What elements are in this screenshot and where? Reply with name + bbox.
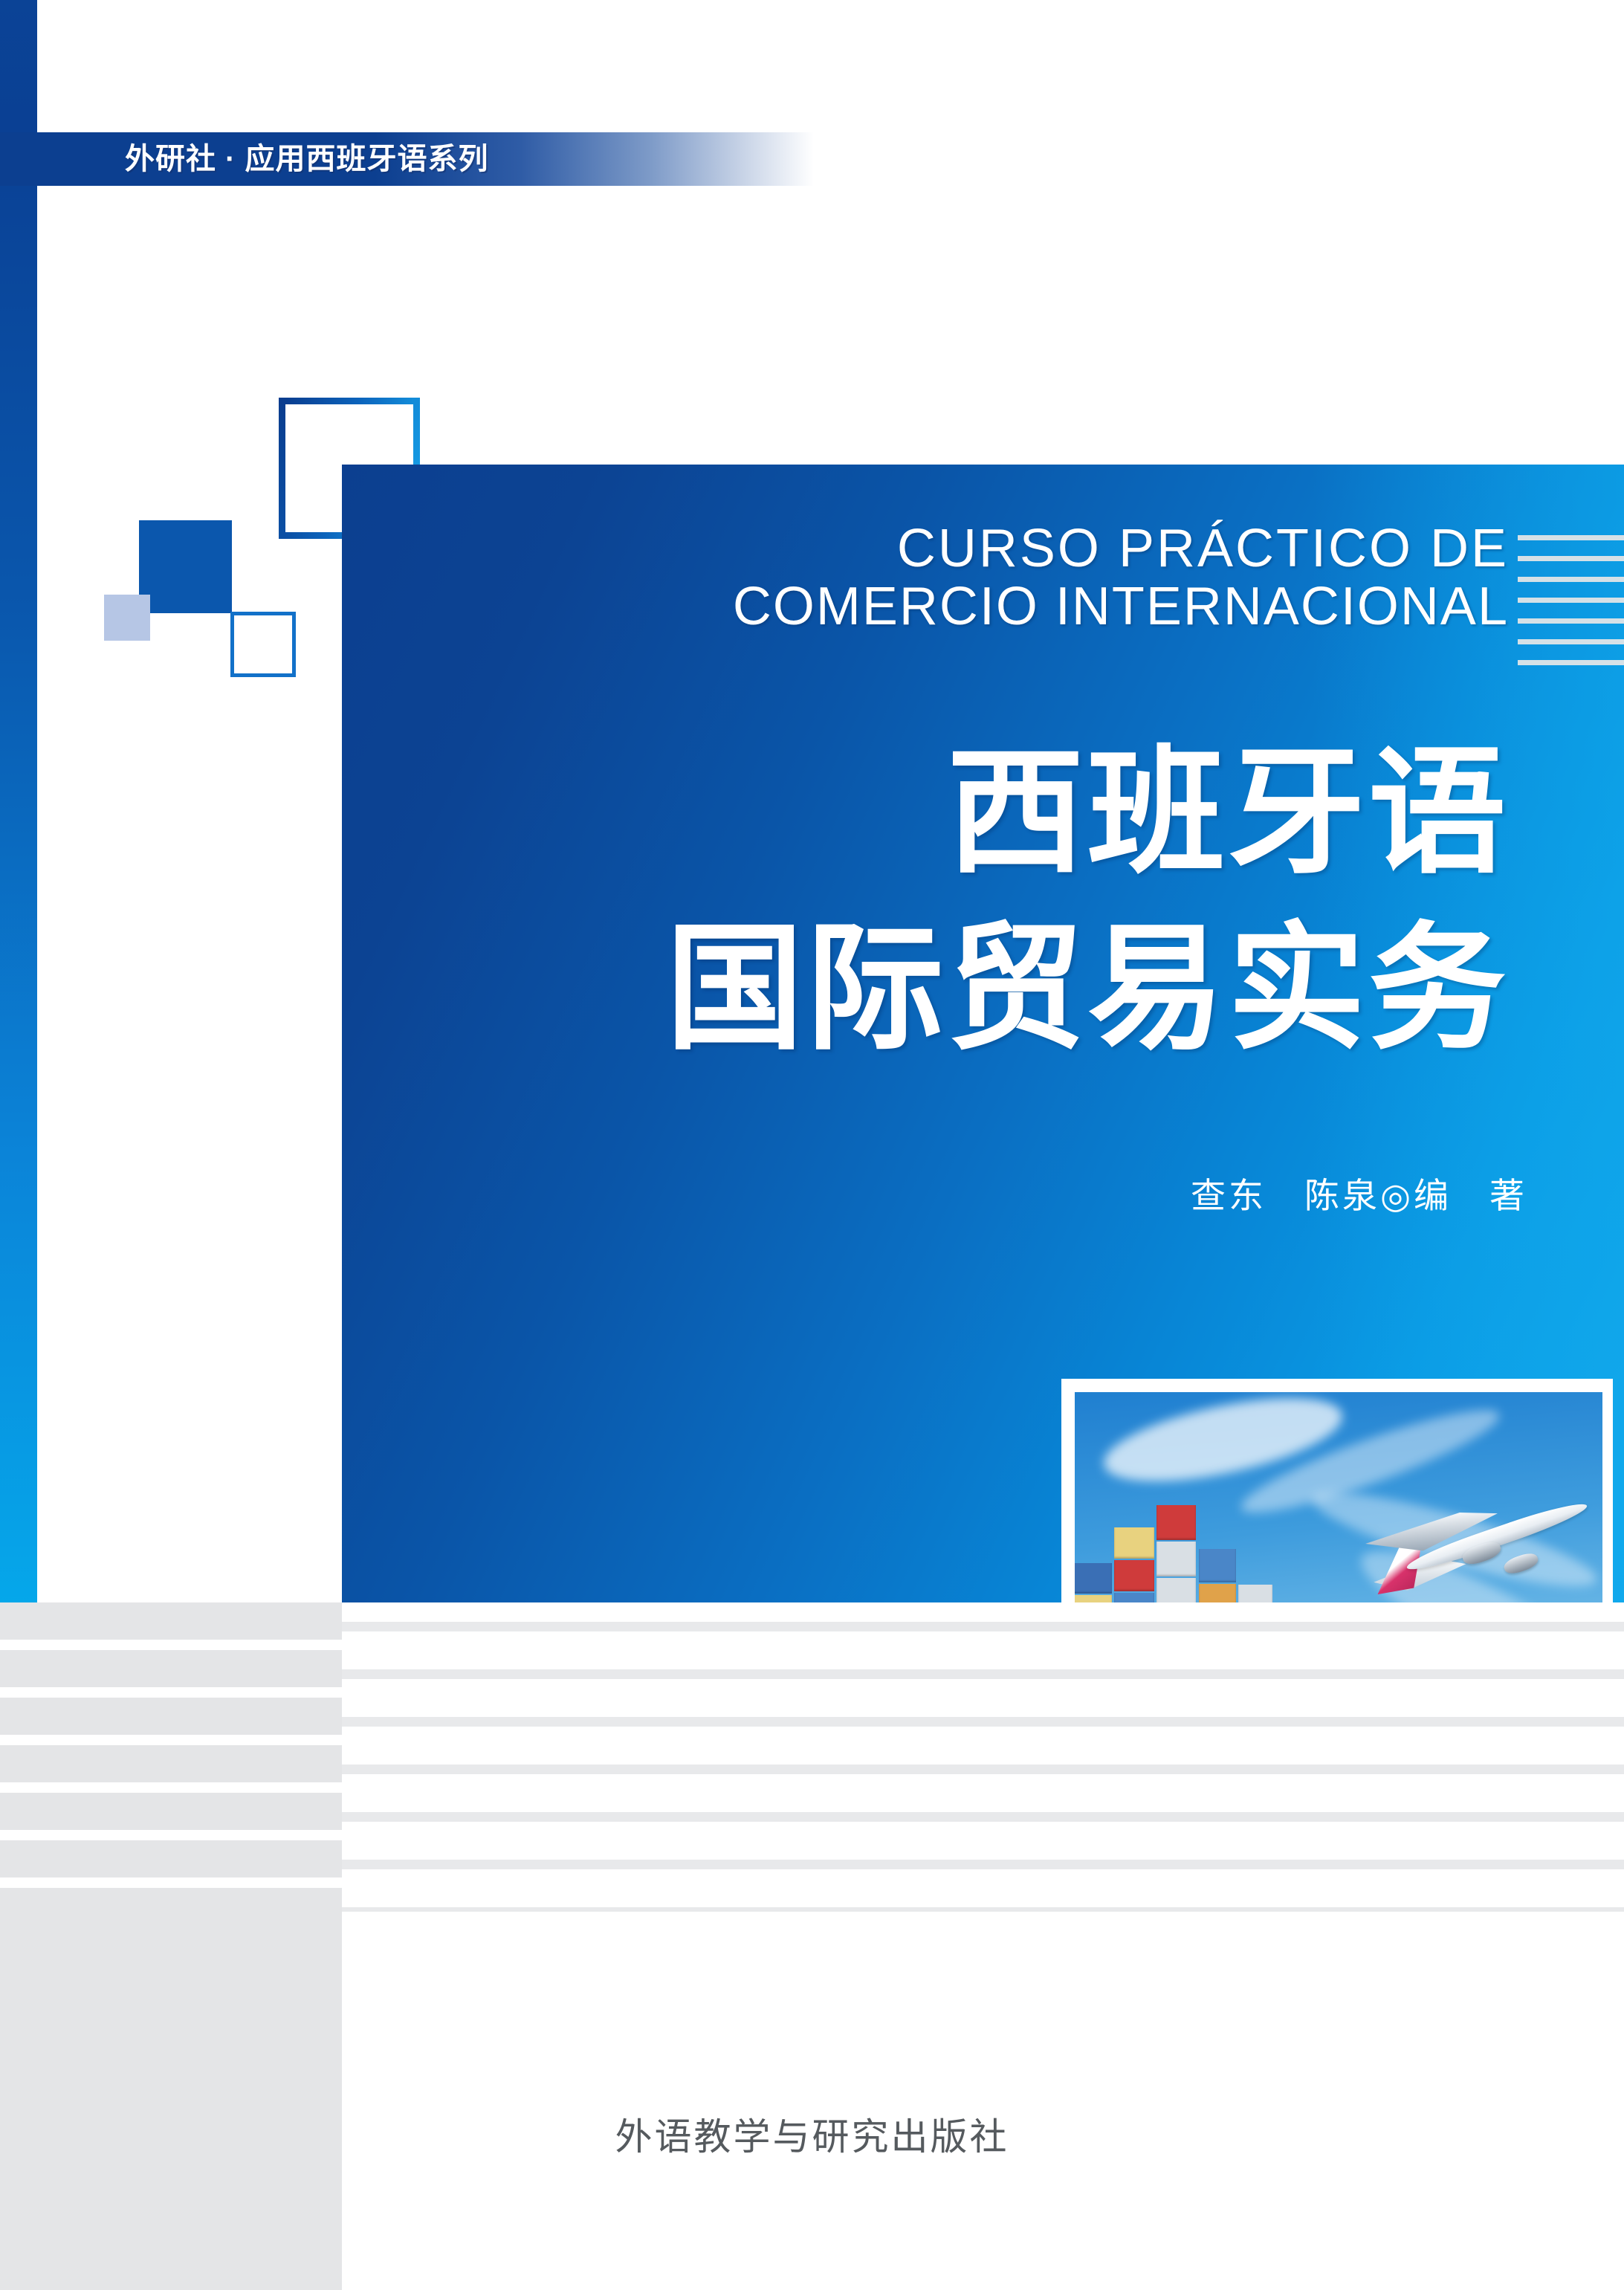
author-line: 查东 陈泉◎编 著 [818,1167,1527,1218]
decor-square-solid-medium [139,520,232,613]
bottom-stripe [342,1622,1624,1631]
bottom-stripe [342,1860,1624,1869]
bottom-stripe [0,1745,342,1782]
decor-line [1518,660,1624,665]
left-accent-bar [0,0,37,1602]
cargo-airplane-icon [1359,1473,1591,1616]
plane-engine [1502,1550,1540,1576]
bottom-stripe [0,1650,342,1687]
book-cover: 外研社 · 应用西班牙语系列 CURSO PRÁCTICO DE COMERCI… [0,0,1624,2290]
shipping-container [1156,1505,1196,1540]
bottom-stripe [0,1793,342,1830]
bottom-stripe [342,1669,1624,1679]
bottom-stripe [0,1602,342,1640]
decor-line [1518,598,1624,603]
decor-line [1518,577,1624,582]
shipping-container [1114,1560,1154,1591]
spanish-title: CURSO PRÁCTICO DE COMERCIO INTERNACIONAL [416,520,1509,636]
bottom-stripe [0,1840,342,1877]
bottom-stripe [342,1717,1624,1727]
decor-line [1518,556,1624,561]
bottom-stripe [342,1765,1624,1774]
shipping-container [1199,1549,1236,1582]
decor-line [1518,535,1624,540]
decor-line [1518,618,1624,624]
bottom-stripes-right [342,1602,1624,2290]
spanish-title-line2: COMERCIO INTERNACIONAL [416,578,1509,636]
shipping-container [1114,1527,1154,1559]
series-label: 外研社 · 应用西班牙语系列 [125,136,489,182]
shipping-container [1075,1563,1112,1594]
decor-square-pale-small [104,595,150,641]
decor-square-outline-small [230,612,296,677]
publisher-name: 外语教学与研究出版社 [0,2107,1624,2161]
decor-lines-group [1518,535,1624,684]
bottom-stripes-left [0,1602,342,2290]
shipping-container [1156,1542,1196,1576]
bottom-stripe [342,1812,1624,1822]
book-title-line2: 国际贸易实务 [386,901,1509,1077]
bottom-stripe [342,1907,1624,1912]
book-title: 西班牙语 国际贸易实务 [386,725,1509,1077]
decor-line [1518,639,1624,644]
book-title-line1: 西班牙语 [386,725,1509,901]
bottom-stripe [0,1888,342,2290]
bottom-stripe [0,1698,342,1735]
spanish-title-line1: CURSO PRÁCTICO DE [416,520,1509,578]
